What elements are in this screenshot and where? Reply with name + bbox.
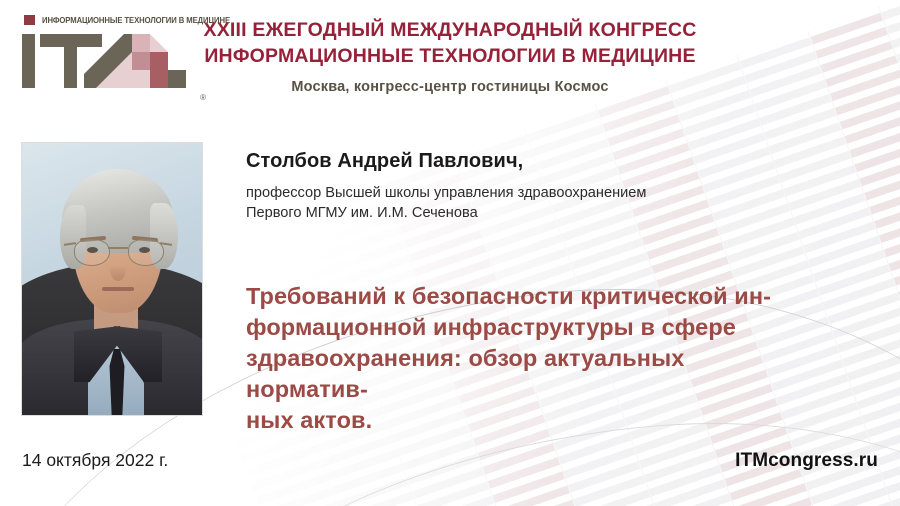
congress-title-line-2: ИНФОРМАЦИОННЫЕ ТЕХНОЛОГИИ В МЕДИЦИНЕ [0, 45, 900, 68]
photo-mouth [102, 287, 134, 291]
speaker-name: Столбов Андрей Павлович, [246, 150, 523, 173]
photo-eyeglass-lens-right [128, 239, 164, 266]
background-grid-column [879, 0, 900, 506]
presentation-slide: ИНФОРМАЦИОННЫЕ ТЕХНОЛОГИИ В МЕДИЦИНЕ ® X… [0, 0, 900, 506]
congress-title-line-1: XXIII ЕЖЕГОДНЫЙ МЕЖДУНАРОДНЫЙ КОНГРЕСС [0, 19, 900, 42]
congress-website[interactable]: ITMcongress.ru [735, 450, 878, 472]
photo-eyeglass-bridge [108, 247, 128, 249]
presentation-title: Требований к безопасности критической ин… [246, 281, 786, 436]
background-grid-separator [807, 30, 900, 506]
speaker-affiliation: профессор Высшей школы управления здраво… [246, 183, 646, 223]
congress-venue-subtitle: Москва, конгресс-центр гостиницы Космос [0, 79, 900, 95]
photo-nose [110, 255, 126, 281]
speaker-photo [22, 143, 202, 415]
photo-eyeglass-lens-left [74, 239, 110, 266]
presentation-date: 14 октября 2022 г. [22, 450, 168, 471]
